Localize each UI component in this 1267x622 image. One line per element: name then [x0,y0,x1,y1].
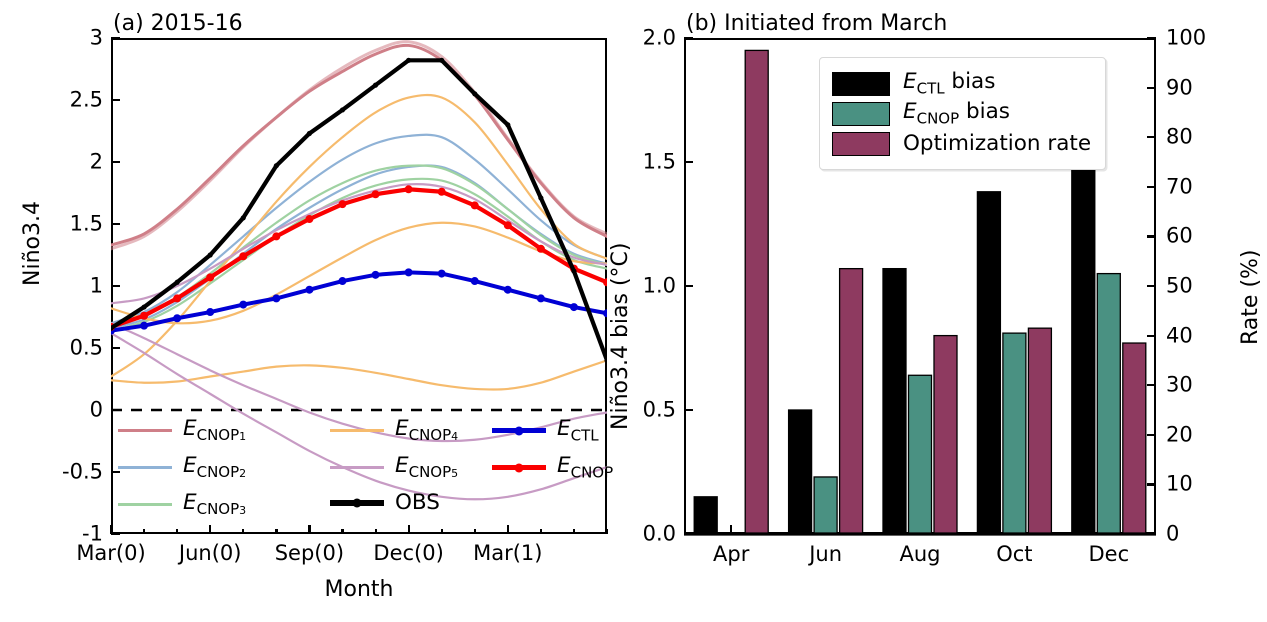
figure-canvas: (a) 2015-16 Niño3.4 Month -1-0.500.511.5… [0,0,1267,622]
bar-aug-optimization-rate [934,336,957,534]
bar-jun-e-ctl-bias [789,410,812,534]
bar-apr-e-ctl-bias [694,497,717,534]
bar-dec-e-ctl-bias [1072,110,1095,534]
bar-aug-e-cnop-bias [909,375,932,534]
legend-swatch [832,102,890,126]
bar-dec-e-cnop-bias [1097,274,1120,534]
legend-label: ECNOP bias [903,101,1010,126]
bar-oct-e-ctl-bias [977,192,1000,534]
legend-item-optimization-rate: Optimization rate [832,132,1091,156]
panel-b-legend: ECTL biasECNOP biasOptimization rate [819,57,1106,170]
bar-jun-optimization-rate [840,269,863,534]
legend-swatch [832,132,890,156]
legend-item-ecnop: ECNOP bias [832,101,1091,126]
bar-oct-e-cnop-bias [1003,333,1026,534]
bar-jun-e-cnop-bias [814,477,837,534]
legend-label: ECTL bias [903,71,995,96]
bar-dec-optimization-rate [1123,343,1146,534]
legend-label: Optimization rate [903,133,1091,155]
legend-item-ectl: ECTL bias [832,71,1091,96]
bar-apr-optimization-rate [745,50,768,534]
bar-aug-e-ctl-bias [883,269,906,534]
bar-oct-optimization-rate [1028,328,1051,534]
legend-swatch [832,72,890,96]
